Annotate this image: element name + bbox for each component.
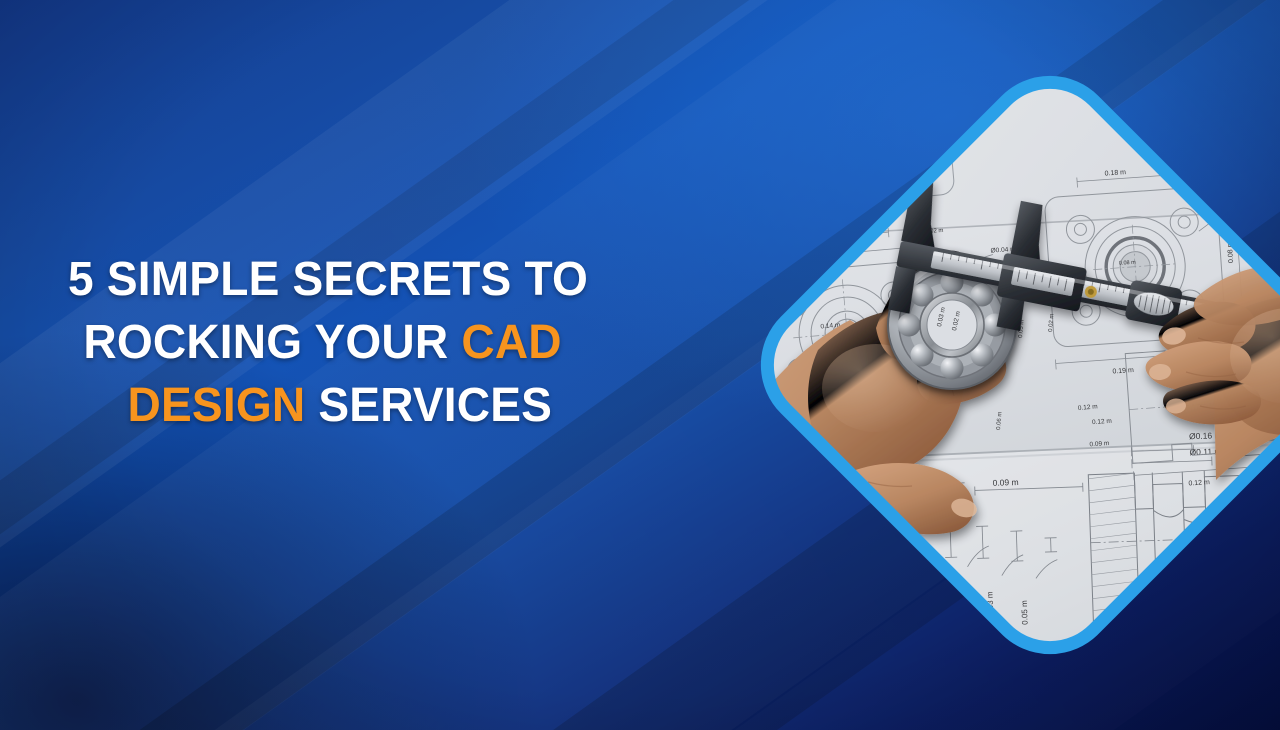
cad-dim-label: 0.11 m	[733, 615, 743, 638]
headline-line-2: ROCKING YOUR CAD	[68, 311, 644, 374]
cad-dim-label: 0.58 m	[765, 516, 785, 524]
cad-dim-label: Ø0.16 m	[1197, 656, 1230, 667]
cad-dim-label: 0.04 m	[1225, 203, 1245, 211]
headline-accent-cad: CAD	[461, 316, 561, 369]
cad-dim-label: 0.33 m	[802, 634, 812, 659]
headline-line-3: DESIGN SERVICES	[68, 374, 644, 437]
cad-dim-label: 0.04 m	[914, 558, 924, 583]
cad-dim-label: 0.12 m	[761, 556, 781, 564]
cad-dim-label: 0.02 m	[700, 571, 722, 581]
cad-dim-label: Ø0.18 m	[1197, 672, 1230, 683]
cad-dim-label: Ø0.13 m	[1196, 640, 1229, 651]
diamond-photo-frame: 0.26 m 0.22 m 0.18 m 0.20 m 0.14 m 0.02 …	[700, 20, 1280, 710]
cad-dim-label: 0.30 m	[759, 594, 779, 602]
cad-dim-label: 0.03 m	[767, 617, 777, 640]
cad-dim-label: 0.58 m	[758, 612, 778, 620]
cad-dim-label: 0.22 m	[800, 226, 820, 235]
cad-dim-label: 0.02 m	[716, 277, 735, 285]
cad-dim-label: Ø0.11 m	[1196, 624, 1228, 635]
cad-drawing-stepped-left: 0.58 m 0.34 m 0.12 m 0.14 m 0.30 m 0.58 …	[712, 489, 873, 641]
cad-dim-label: 140°	[1242, 588, 1256, 606]
headline-line-2-text: ROCKING YOUR	[83, 316, 461, 369]
diamond-photo-svg: 0.26 m 0.22 m 0.18 m 0.20 m 0.14 m 0.02 …	[700, 20, 1280, 710]
banner-root: 5 SIMPLE SECRETS TO ROCKING YOUR CAD DES…	[0, 0, 1280, 730]
headline-line-1: 5 SIMPLE SECRETS TO	[68, 248, 644, 311]
cad-dim-label: 0.26 m	[817, 245, 839, 254]
cad-dim-label: 0.20 m	[731, 325, 740, 347]
cad-dim-label: 0.44 m	[757, 630, 777, 638]
headline-accent-design: DESIGN	[128, 379, 306, 432]
headline-line-3-text: SERVICES	[305, 379, 552, 432]
cad-dim-label: 0.34 m	[762, 536, 782, 544]
cad-dim-label: 0.14 m	[760, 576, 780, 584]
headline-block: 5 SIMPLE SECRETS TO ROCKING YOUR CAD DES…	[68, 248, 668, 437]
cad-dimension-ladder-bottomleft: 0.02 m 0.11 m 0.03 m 0.33 m	[700, 553, 824, 686]
